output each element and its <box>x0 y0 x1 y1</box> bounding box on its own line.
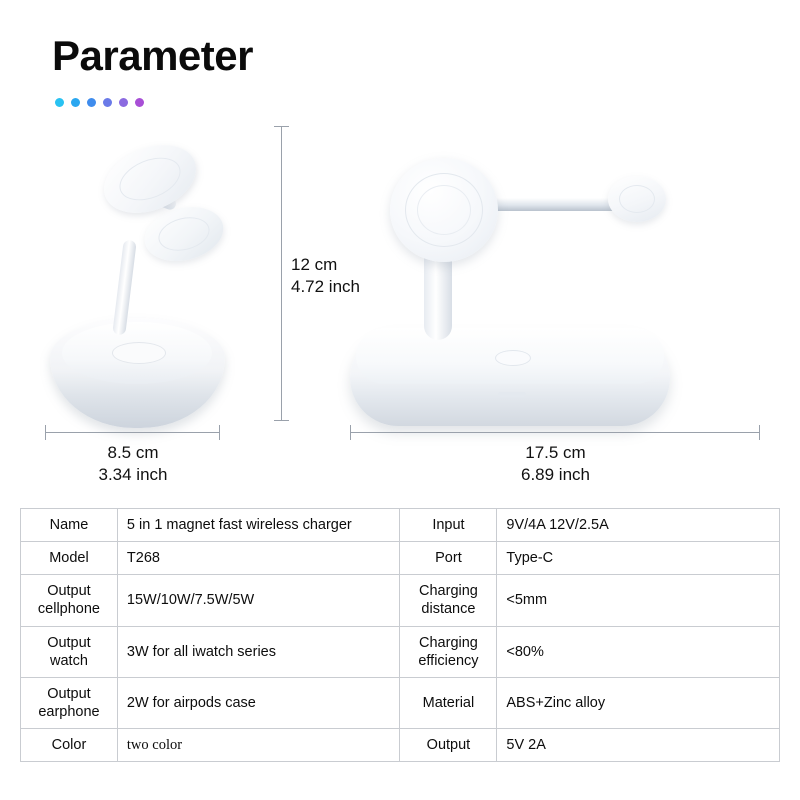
table-row: Output watch 3W for all iwatch series Ch… <box>21 626 780 677</box>
table-row: Color two color Output 5V 2A <box>21 729 780 762</box>
spec-key-material: Material <box>400 677 497 728</box>
dot-2 <box>71 98 80 107</box>
page-title: Parameter <box>52 32 253 80</box>
spec-value-input: 9V/4A 12V/2.5A <box>497 509 780 542</box>
spec-value-model: T268 <box>117 542 400 575</box>
right-width-metric: 17.5 cm <box>350 442 761 464</box>
spec-key-output-cellphone: Output cellphone <box>21 575 118 626</box>
height-dimension-cap-bottom <box>274 420 289 421</box>
right-width-dimension-line <box>350 432 760 433</box>
spec-value-material: ABS+Zinc alloy <box>497 677 780 728</box>
spec-value-output-cellphone: 15W/10W/7.5W/5W <box>117 575 400 626</box>
dot-5 <box>119 98 128 107</box>
height-dimension-line <box>281 126 282 421</box>
spec-key-output: Output <box>400 729 497 762</box>
right-earphone-pad <box>495 350 531 366</box>
product-side-view-image <box>40 130 280 450</box>
spec-key-name: Name <box>21 509 118 542</box>
spec-key-charging-distance: Charging distance <box>400 575 497 626</box>
spec-key-output-earphone: Output earphone <box>21 677 118 728</box>
right-led-indicator <box>498 392 526 397</box>
left-width-cap-start <box>45 425 46 440</box>
height-dimension-cap-top <box>274 126 289 127</box>
height-imperial: 4.72 inch <box>291 276 381 298</box>
decorative-dots <box>55 98 144 107</box>
left-width-imperial: 3.34 inch <box>45 464 221 486</box>
spec-key-charging-efficiency: Charging efficiency <box>400 626 497 677</box>
table-row: Name 5 in 1 magnet fast wireless charger… <box>21 509 780 542</box>
right-width-imperial: 6.89 inch <box>350 464 761 486</box>
dot-1 <box>55 98 64 107</box>
table-row: Output earphone 2W for airpods case Mate… <box>21 677 780 728</box>
specification-table: Name 5 in 1 magnet fast wireless charger… <box>20 508 780 762</box>
spec-key-model: Model <box>21 542 118 575</box>
right-phone-charging-disc <box>390 158 498 262</box>
spec-value-port: Type-C <box>497 542 780 575</box>
spec-key-port: Port <box>400 542 497 575</box>
right-watch-charging-disc <box>608 176 666 222</box>
right-width-cap-end <box>759 425 760 440</box>
height-dimension-label: 12 cm 4.72 inch <box>291 254 381 299</box>
spec-value-output-watch: 3W for all iwatch series <box>117 626 400 677</box>
table-row: Model T268 Port Type-C <box>21 542 780 575</box>
dot-4 <box>103 98 112 107</box>
spec-value-color: two color <box>117 729 400 762</box>
right-width-dimension-label: 17.5 cm 6.89 inch <box>350 442 761 487</box>
spec-key-color: Color <box>21 729 118 762</box>
left-width-cap-end <box>219 425 220 440</box>
spec-value-name: 5 in 1 magnet fast wireless charger <box>117 509 400 542</box>
right-width-cap-start <box>350 425 351 440</box>
spec-value-charging-efficiency: <80% <box>497 626 780 677</box>
height-metric: 12 cm <box>291 254 381 276</box>
dot-3 <box>87 98 96 107</box>
left-earphone-pad <box>112 342 166 364</box>
spec-value-output-earphone: 2W for airpods case <box>117 677 400 728</box>
dot-6 <box>135 98 144 107</box>
spec-value-output: 5V 2A <box>497 729 780 762</box>
spec-key-input: Input <box>400 509 497 542</box>
spec-value-charging-distance: <5mm <box>497 575 780 626</box>
left-width-dimension-line <box>45 432 220 433</box>
right-watch-arm <box>490 198 620 211</box>
product-front-view-image <box>340 130 760 450</box>
table-row: Output cellphone 15W/10W/7.5W/5W Chargin… <box>21 575 780 626</box>
spec-key-output-watch: Output watch <box>21 626 118 677</box>
product-illustration-area: 12 cm 4.72 inch 8.5 cm 3.34 inch 17.5 cm… <box>0 120 800 490</box>
left-width-dimension-label: 8.5 cm 3.34 inch <box>45 442 221 487</box>
left-width-metric: 8.5 cm <box>45 442 221 464</box>
